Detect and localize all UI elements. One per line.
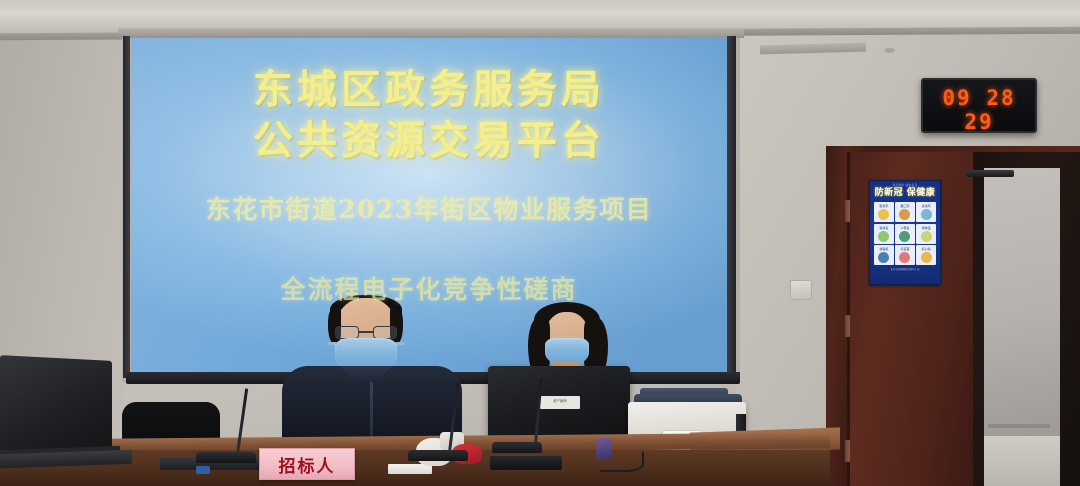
screen-left-edge [123,36,130,378]
poster-cell: 少聚集 [895,224,915,244]
poster-cell-label: 戴口罩 [900,204,909,208]
smoke-detector-icon [884,48,895,53]
door-kick-plate [988,424,1050,428]
desk-cable [600,452,644,472]
door-closer [966,170,1014,177]
poster-illustration-icon [899,209,910,220]
health-poster: 科学防护 健康生活 防新冠 保健康 勤洗手 戴口罩 多通风 勤消毒 少聚集 [869,180,941,285]
poster-cell-label: 多通风 [922,204,931,208]
poster-cell-label: 打疫苗 [900,247,909,251]
poster-cell-label: 勤洗手 [879,204,888,208]
black-desk-device [490,456,562,470]
microphone[interactable] [408,450,468,461]
poster-title: 防新冠 保健康 [874,188,936,199]
door-hinge-icon [845,315,850,337]
poster-cell-label: 好心情 [922,247,931,251]
slide-content: 东城区政务服务局 公共资源交易平台 东花市街道2023年街区物业服务项目 全流程… [131,38,727,372]
poster-cell: 好心情 [916,245,936,265]
nameplate-label: 招标人 [279,452,336,477]
wall-switch[interactable] [790,280,812,300]
poster-cell-label: 测体温 [922,226,931,230]
poster-cell: 测体温 [916,224,936,244]
poster-cell: 多通风 [916,202,936,222]
corridor-floor [984,436,1060,486]
screen-right-edge [727,36,736,378]
digital-clock: 09 28 29 2023-03-27 星期一 [921,78,1037,133]
microphone[interactable] [492,442,542,453]
door-hinge-icon [845,440,850,462]
poster-cell-label: 少聚集 [900,226,909,230]
poster-cell: 常锻炼 [874,245,894,265]
poster-cell: 勤洗手 [874,202,894,222]
door-hinge-icon [845,200,850,222]
slide-footer: 全流程电子化竞争性磋商 [131,270,727,306]
monitor-asset-label: 资产编号 [540,396,580,409]
nameplate-tenderer: 招标人 [259,448,355,480]
slide-subtitle: 东花市街道2023年街区物业服务项目 [131,190,727,226]
poster-cell: 戴口罩 [895,202,915,222]
slide-title-line1: 东城区政务服务局 [131,38,727,115]
projection-screen-surface: 东城区政务服务局 公共资源交易平台 东花市街道2023年街区物业服务项目 全流程… [131,38,727,372]
projection-screen-rail [118,28,744,38]
meeting-room-photo: 东城区政务服务局 公共资源交易平台 东花市街道2023年街区物业服务项目 全流程… [0,0,1080,486]
jacket-zipper [370,382,373,444]
poster-footer: 北京市疾病预防控制中心 宣 [874,268,936,272]
poster-grid: 勤洗手 戴口罩 多通风 勤消毒 少聚集 测体温 [874,202,936,265]
poster-illustration-icon [899,252,910,263]
clock-time-display: 09 28 29 [923,86,1035,133]
microphone[interactable] [196,452,256,463]
poster-illustration-icon [899,231,910,242]
poster-cell-label: 勤消毒 [879,226,888,230]
poster-cell-label: 常锻炼 [879,247,888,251]
poster-illustration-icon [921,231,932,242]
poster-cell: 打疫苗 [895,245,915,265]
poster-illustration-icon [878,252,889,263]
blue-connector-icon [196,466,210,474]
corridor-wall [984,168,1060,436]
laptop-screen [0,355,112,461]
poster-illustration-icon [921,252,932,263]
poster-illustration-icon [878,209,889,220]
slide-title-line2: 公共资源交易平台 [131,115,727,166]
poster-illustration-icon [878,231,889,242]
poster-illustration-icon [921,209,932,220]
poster-cell: 勤消毒 [874,224,894,244]
